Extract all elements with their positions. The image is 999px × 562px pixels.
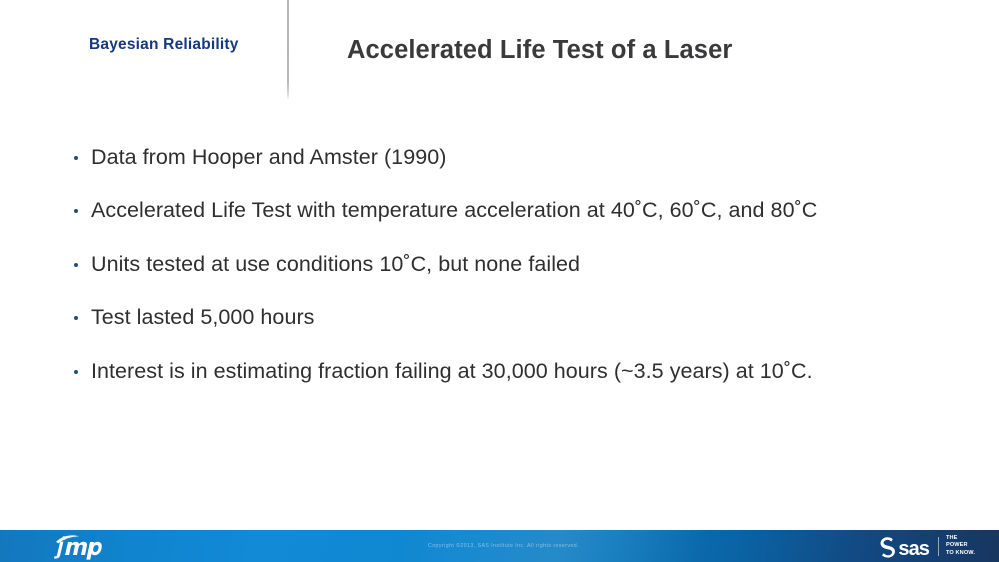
sas-swirl-icon <box>878 536 898 558</box>
list-item: Test lasted 5,000 hours <box>70 292 950 346</box>
list-item-label: Test lasted 5,000 hours <box>91 306 314 330</box>
bullet-list: Data from Hooper and Amster (1990) Accel… <box>70 131 950 399</box>
slide-header: Bayesian Reliability Accelerated Life Te… <box>0 0 999 105</box>
sas-tagline-line-1: THE <box>946 535 975 542</box>
sas-wordmark-label: sas <box>898 539 929 559</box>
list-item: Units tested at use conditions 10˚C, but… <box>70 238 950 292</box>
page-title: Accelerated Life Test of a Laser <box>347 36 732 65</box>
list-item-label: Data from Hooper and Amster (1990) <box>91 146 446 170</box>
list-item-label: Interest is in estimating fraction faili… <box>91 360 813 384</box>
list-item: Accelerated Life Test with temperature a… <box>70 185 950 239</box>
slide-footer: Copyright ©2013, SAS Institute Inc. All … <box>0 530 999 562</box>
list-item: Data from Hooper and Amster (1990) <box>70 131 950 185</box>
list-item-label: Accelerated Life Test with temperature a… <box>91 199 817 223</box>
list-item: Interest is in estimating fraction faili… <box>70 345 950 399</box>
bullet-dot-icon <box>74 316 78 320</box>
bullet-dot-icon <box>74 209 78 213</box>
header-divider <box>287 0 289 100</box>
sas-tagline: THE POWER TO KNOW. <box>946 535 975 557</box>
bullet-dot-icon <box>74 263 78 267</box>
copyright-text: Copyright ©2013, SAS Institute Inc. All … <box>0 530 999 562</box>
sas-logo-divider <box>938 537 939 556</box>
list-item-label: Units tested at use conditions 10˚C, but… <box>91 253 580 277</box>
sas-tagline-line-2: POWER <box>946 542 975 549</box>
sas-wordmark: sas <box>878 533 929 559</box>
sas-logo: sas THE POWER TO KNOW. <box>878 533 975 559</box>
bullet-dot-icon <box>74 156 78 160</box>
brand-eyebrow: Bayesian Reliability <box>89 36 279 54</box>
bullet-dot-icon <box>74 370 78 374</box>
sas-tagline-line-3: TO KNOW. <box>946 550 975 557</box>
slide: Bayesian Reliability Accelerated Life Te… <box>0 0 999 562</box>
